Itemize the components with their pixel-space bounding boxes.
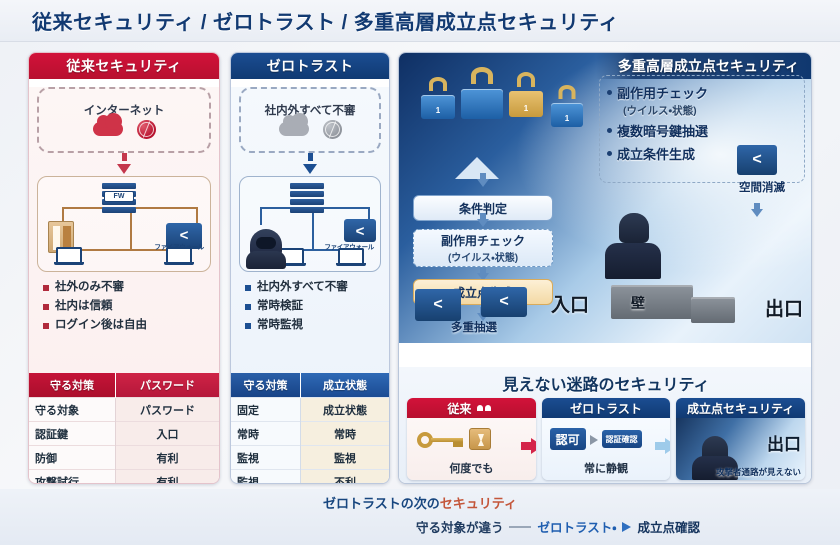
share-node-icon [344, 219, 376, 242]
list-item: 社外のみ不審 [43, 278, 219, 297]
approval-box: 認可 [550, 428, 586, 450]
panel-traditional-body: インターネット FW ファイア [29, 87, 219, 484]
flow-arrow-icon [751, 203, 763, 217]
bullet-square-icon [43, 285, 49, 291]
maze-card-caption: 常に静観 [542, 460, 671, 476]
globe-icon [137, 120, 156, 139]
users-icon [477, 403, 495, 413]
panel-traditional-header: 従来セキュリティ [29, 53, 219, 79]
gray-arrow-icon [590, 435, 598, 445]
exit-label: 出口 [765, 294, 803, 321]
footer-line-2: 守る対象が違う ゼロトラスト・ 成立点確認 [416, 517, 700, 536]
bullet-dot-icon [607, 151, 612, 156]
table-cell: 認証鍵 [29, 422, 116, 446]
panel-zero-trust-header: ゼロトラスト [231, 53, 389, 79]
table-row: 常時 常時 [231, 422, 389, 446]
space-vanish-label: 空間消滅 [739, 179, 785, 195]
maze-section: 見えない迷路のセキュリティ 従来 [399, 367, 812, 483]
page-title: 従来セキュリティ / ゼロトラスト / 多重高層成立点セキュリティ [32, 6, 619, 35]
bullet-text: ログイン後は自由 [55, 316, 147, 335]
table-cell: 監視 [301, 446, 389, 470]
flow-step-title: 副作用チェック [441, 232, 525, 249]
bullet-subtext: (ウイルス・状態) [623, 103, 803, 118]
panel-traditional-security: 従来セキュリティ インターネット FW [28, 52, 220, 484]
maze-card-body: 出口 攻撃者通路が見えない [676, 418, 805, 480]
bullet-text: 複数暗号鍵抽選 [617, 121, 708, 140]
maze-card-establishment-point[interactable]: 成立点セキュリティ 出口 攻撃者通路が見えない [676, 398, 805, 480]
network-diagram-traditional: FW ファイアウォール [37, 176, 211, 272]
internet-icons [279, 120, 342, 139]
untrusted-label: 社内外すべて不審 [265, 102, 356, 118]
padlock-icon [461, 81, 503, 119]
list-item: 副作用チェック [607, 83, 803, 102]
wall-block [691, 297, 735, 323]
maze-card-title: ゼロトラスト [570, 400, 642, 417]
table-cell: 有利 [116, 470, 219, 485]
verification-box: 認証確認 [602, 430, 642, 448]
bullet-square-icon [245, 323, 251, 329]
panel-zero-trust: ゼロトラスト 社内外すべて不審 ファイアウォール [230, 52, 390, 484]
table-cell: 常時 [301, 422, 389, 446]
list-item: 常時監視 [245, 316, 389, 335]
table-cell: 常時 [231, 422, 301, 446]
bullet-square-icon [43, 304, 49, 310]
footer-text-primary: ゼロトラストの次の [323, 496, 440, 511]
maze-card-title: 従来 [447, 400, 471, 417]
entrance-label: 入口 [551, 290, 589, 317]
list-item: 社内は信頼 [43, 297, 219, 316]
panel-multilayer-security: 多重高層成立点セキュリティ 1 1 [398, 52, 812, 484]
hacker-icon [244, 223, 288, 269]
bullet-text: 社外のみ不審 [55, 278, 124, 297]
table-row: 防御 有利 [29, 446, 219, 470]
laptop-icon [164, 247, 194, 267]
table-cell: 不利 [301, 470, 389, 485]
table-cell: 固定 [231, 398, 301, 422]
maze-card-header: ゼロトラスト [542, 398, 671, 418]
bullet-text: 常時監視 [257, 316, 303, 335]
flow-arrow-down [29, 153, 219, 174]
table-row: 攻撃試行 有利 [29, 470, 219, 485]
table-header-cell: 守る対策 [231, 373, 301, 398]
flow-step-subtitle: (ウイルス・状態) [448, 249, 518, 264]
table-cell: パスワード [116, 398, 219, 422]
internet-zone-zero-trust: 社内外すべて不審 [239, 87, 381, 153]
table-row: 監視 不利 [231, 470, 389, 485]
table-row: 固定 成立状態 [231, 398, 389, 422]
table-cell: 成立状態 [301, 398, 389, 422]
share-node-icon [737, 145, 777, 175]
table-cell: 守る対象 [29, 398, 116, 422]
list-item: 複数暗号鍵抽選 [607, 121, 803, 140]
cloud-icon [279, 122, 309, 136]
multilayer-visual: 多重高層成立点セキュリティ 1 1 [399, 53, 811, 343]
lock-cluster: 1 1 1 [421, 71, 601, 151]
infographic-page: 従来セキュリティ / ゼロトラスト / 多重高層成立点セキュリティ 従来セキュリ… [0, 0, 840, 545]
maze-card-row: 従来 何度でも [399, 395, 812, 480]
network-diagram-zero-trust: ファイアウォール [239, 176, 381, 272]
arrow-right-icon [622, 522, 631, 532]
attacker-icon [605, 207, 661, 279]
list-item: 社内外すべて不審 [245, 278, 389, 297]
list-item: ログイン後は自由 [43, 316, 219, 335]
traditional-comparison-table: 守る対策 パスワード 守る対象 パスワード 認証鍵 入口 防御 有利 攻撃試行 [29, 373, 219, 484]
flow-step-sideeffect: 副作用チェック (ウイルス・状態) [413, 229, 553, 267]
zero-trust-comparison-table: 守る対策 成立状態 固定 成立状態 常時 常時 監視 監視 監視 不利 [231, 373, 389, 484]
list-item: 常時検証 [245, 297, 389, 316]
padlock-icon: 1 [421, 89, 455, 119]
table-header-row: 守る対策 パスワード [29, 373, 219, 398]
attacker-path-note: 攻撃者通路が見えない [716, 466, 801, 478]
footer-zero-trust-text: ゼロトラスト・ [537, 517, 616, 536]
table-cell: 監視 [231, 446, 301, 470]
internet-label: インターネット [84, 102, 165, 118]
panel-zero-trust-body: 社内外すべて不審 ファイアウォール [231, 87, 389, 484]
flow-arrow-icon [477, 173, 489, 187]
maze-card-body: 何度でも [407, 418, 536, 480]
share-node-icon [415, 289, 461, 321]
footer: ゼロトラストの次のセキュリティ 守る対象が違う ゼロトラスト・ 成立点確認 [0, 489, 840, 545]
multi-draw-label: 多重抽選 [451, 319, 497, 335]
wall-block [611, 285, 693, 319]
bullet-text: 社内は信頼 [55, 297, 113, 316]
bullet-text: 副作用チェック [617, 83, 708, 102]
red-arrow-head-icon [531, 438, 536, 454]
internet-zone-traditional: インターネット [37, 87, 211, 153]
bullet-dot-icon [607, 128, 612, 133]
table-row: 認証鍵 入口 [29, 422, 219, 446]
table-header-cell: 成立状態 [301, 373, 389, 398]
footer-compare-text: 守る対象が違う [416, 517, 504, 536]
bullet-text: 常時検証 [257, 297, 303, 316]
maze-card-title: 成立点セキュリティ [687, 400, 794, 417]
padlock-icon: 1 [551, 97, 583, 127]
table-cell: 入口 [116, 422, 219, 446]
table-header-cell: 守る対策 [29, 373, 116, 398]
wall-label: 壁 [631, 293, 645, 313]
table-row: 監視 監視 [231, 446, 389, 470]
cloud-icon [93, 122, 123, 136]
table-cell: 防御 [29, 446, 116, 470]
firewall-chip: FW [104, 191, 134, 202]
maze-card-header: 従来 [407, 398, 536, 418]
bullet-text: 成立条件生成 [617, 144, 695, 163]
server-stack-icon [290, 183, 324, 209]
exit-label: 出口 [767, 430, 801, 455]
maze-card-zero-trust[interactable]: ゼロトラスト 認可 認証確認 常に静観 [542, 398, 671, 480]
maze-card-header: 成立点セキュリティ [676, 398, 805, 418]
traditional-bullet-list: 社外のみ不審 社内は信頼 ログイン後は自由 [43, 278, 219, 335]
padlock-icon: 1 [509, 85, 543, 117]
bullet-square-icon [43, 323, 49, 329]
table-cell: 攻撃試行 [29, 470, 116, 485]
laptop-icon [54, 247, 84, 267]
cyan-arrow-head-icon [665, 438, 670, 454]
bullet-square-icon [245, 304, 251, 310]
bullet-text: 社内外すべて不審 [257, 278, 348, 297]
laptop-icon [336, 248, 366, 268]
lockbox-icon [469, 428, 491, 450]
table-header-row: 守る対策 成立状態 [231, 373, 389, 398]
maze-title: 見えない迷路のセキュリティ [399, 367, 812, 395]
bullet-square-icon [245, 285, 251, 291]
maze-card-caption: 何度でも [407, 460, 536, 476]
globe-icon [323, 120, 342, 139]
internet-icons [93, 120, 156, 139]
maze-card-body: 認可 認証確認 常に静観 [542, 418, 671, 480]
maze-card-traditional[interactable]: 従来 何度でも [407, 398, 536, 480]
divider-dash [509, 526, 531, 528]
footer-conclusion-text: 成立点確認 [637, 517, 700, 536]
footer-text-accent: セキュリティ [440, 496, 517, 511]
table-cell: 監視 [231, 470, 301, 485]
table-cell: 有利 [116, 446, 219, 470]
table-row: 守る対象 パスワード [29, 398, 219, 422]
flow-arrow-icon [477, 213, 489, 227]
bullet-dot-icon [607, 90, 612, 95]
footer-line-1: ゼロトラストの次のセキュリティ [0, 493, 840, 512]
share-node-icon [481, 287, 527, 317]
title-bar: 従来セキュリティ / ゼロトラスト / 多重高層成立点セキュリティ [0, 0, 840, 42]
table-header-cell: パスワード [116, 373, 219, 398]
zero-trust-bullet-list: 社内外すべて不審 常時検証 常時監視 [245, 278, 389, 335]
key-icon [417, 432, 463, 448]
flow-arrow-down [231, 153, 389, 174]
